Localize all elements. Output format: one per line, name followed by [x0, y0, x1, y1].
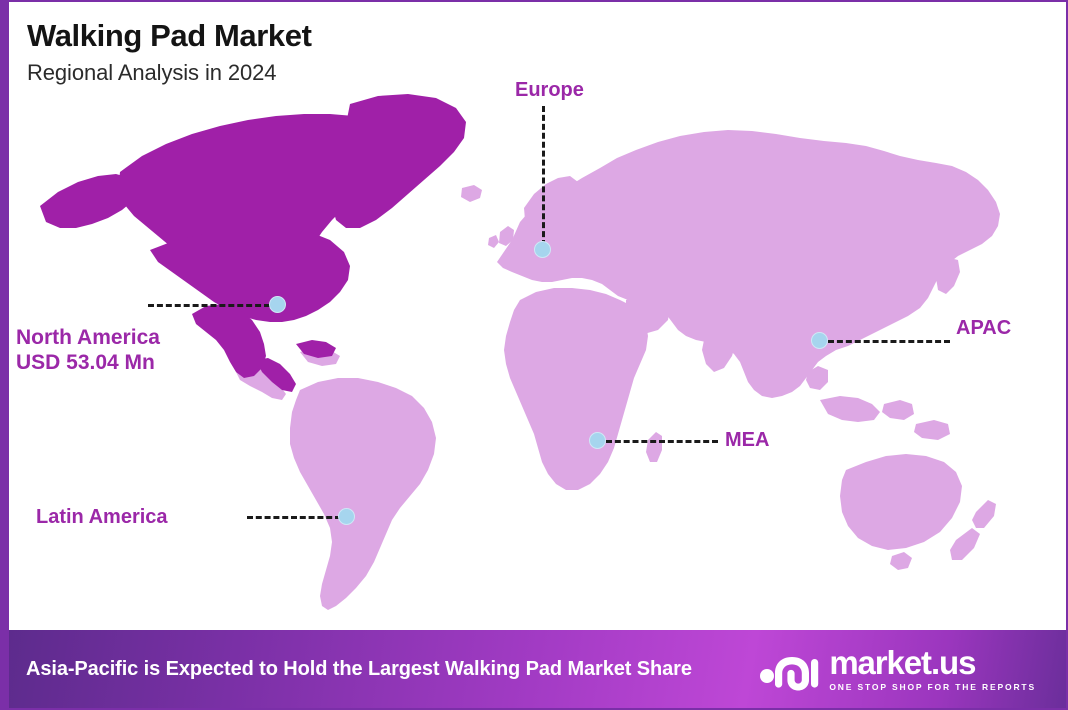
region-new-guinea: [914, 420, 950, 440]
market-us-logo[interactable]: market.us ONE STOP SHOP FOR THE REPORTS: [758, 646, 1050, 692]
region-arabia: [626, 294, 670, 334]
logo-tagline: ONE STOP SHOP FOR THE REPORTS: [829, 683, 1036, 692]
region-africa: [504, 288, 648, 490]
region-tasmania: [890, 552, 912, 570]
page-subtitle: Regional Analysis in 2024: [27, 60, 312, 85]
infographic-card: Walking Pad Market Regional Analysis in …: [0, 0, 1068, 710]
callout-label-north-america: North America USD 53.04 Mn: [16, 325, 160, 375]
page-title: Walking Pad Market: [27, 18, 312, 54]
leader-line-latin-america: [247, 516, 341, 519]
marker-dot-mea[interactable]: [589, 432, 606, 449]
region-cuba: [296, 340, 336, 358]
region-ireland: [488, 235, 499, 248]
left-accent-stripe: [2, 2, 9, 708]
region-new-zealand-north: [972, 500, 996, 528]
header: Walking Pad Market Regional Analysis in …: [27, 18, 312, 85]
marker-dot-europe[interactable]: [534, 241, 551, 258]
region-borneo: [882, 400, 914, 420]
callout-north-america-value: USD 53.04 Mn: [16, 350, 160, 375]
region-madagascar: [646, 432, 662, 462]
market-us-logo-mark-icon: [758, 646, 820, 692]
region-new-zealand-south: [950, 528, 980, 560]
region-australia: [840, 454, 962, 550]
marker-dot-apac[interactable]: [811, 332, 828, 349]
footer-banner: Asia-Pacific is Expected to Hold the Lar…: [2, 630, 1066, 708]
marker-dot-latin-america[interactable]: [338, 508, 355, 525]
region-south-america: [290, 378, 436, 610]
logo-text-group: market.us ONE STOP SHOP FOR THE REPORTS: [829, 646, 1036, 692]
callout-label-apac: APAC: [956, 316, 1011, 340]
region-iceland: [461, 185, 482, 202]
logo-name: market.us: [829, 646, 975, 679]
region-india: [702, 326, 736, 372]
leader-line-mea: [606, 440, 718, 443]
footer-headline: Asia-Pacific is Expected to Hold the Lar…: [26, 656, 692, 682]
callout-label-mea: MEA: [725, 428, 769, 452]
region-greenland: [332, 94, 466, 228]
callout-north-america-name: North America: [16, 325, 160, 350]
region-united-states: [150, 228, 350, 322]
callout-label-europe: Europe: [515, 78, 584, 102]
callout-label-latin-america: Latin America: [36, 505, 168, 529]
leader-line-europe: [542, 106, 545, 246]
marker-dot-north-america[interactable]: [269, 296, 286, 313]
leader-line-north-america: [148, 304, 270, 307]
leader-line-apac: [828, 340, 950, 343]
region-indonesia: [820, 396, 880, 422]
